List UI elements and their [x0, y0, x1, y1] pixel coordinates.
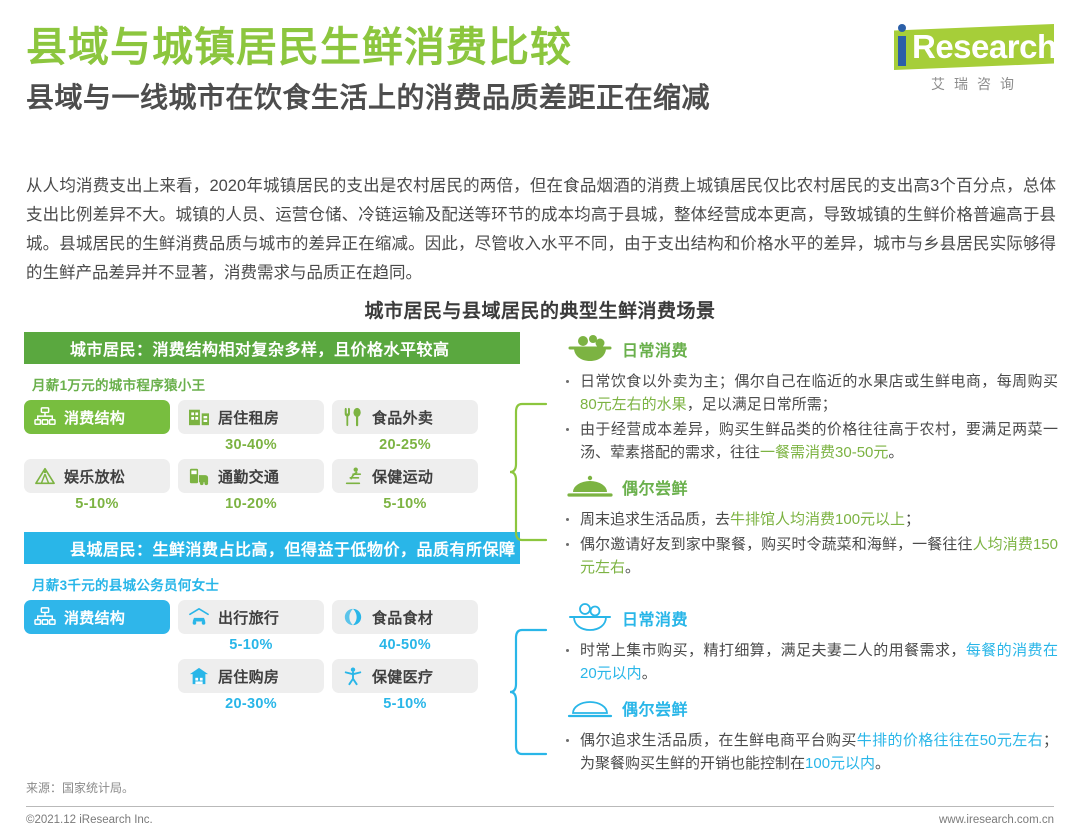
chip-label: 消费结构	[64, 407, 125, 428]
chip-label: 通勤交通	[218, 466, 279, 487]
chip-car-icon[interactable]: 出行旅行	[178, 600, 324, 634]
structure-icon	[32, 406, 58, 428]
cloche-icon	[558, 691, 622, 725]
body-text: ，足以满足日常所需；	[687, 396, 837, 413]
chip-label: 娱乐放松	[64, 466, 125, 487]
scene-bullet-list: 偶尔追求生活品质，在生鲜电商平台购买牛排的价格往往在50元左右；为聚餐购买生鲜的…	[558, 729, 1058, 775]
chip-value: 5-10%	[178, 637, 324, 653]
body-text: 偶尔追求生活品质，在生鲜电商平台购买	[580, 732, 857, 749]
city-bracket	[508, 402, 550, 544]
scene-header: 日常消费	[558, 330, 1058, 368]
tent-icon	[32, 465, 58, 487]
chip-label: 食品食材	[372, 607, 433, 628]
chip-label: 食品外卖	[372, 407, 433, 428]
highlight-text: 一餐需消费30-50元	[760, 444, 888, 461]
chip-value: 5-10%	[332, 696, 478, 712]
logo-i-dot-icon	[898, 24, 906, 32]
chip-value: 5-10%	[24, 496, 170, 512]
body-text: ；	[905, 511, 920, 528]
footer-copyright: ©2021.12 iResearch Inc.	[26, 814, 153, 826]
chip-value: 40-50%	[332, 637, 478, 653]
city-chip-grid: 消费结构-居住租房30-40%食品外卖20-25%娱乐放松5-10%通勤交通10…	[24, 400, 520, 518]
list-item: 偶尔追求生活品质，在生鲜电商平台购买牛排的价格往往在50元左右；为聚餐购买生鲜的…	[580, 729, 1058, 775]
city-band: 城市居民：消费结构相对复杂多样，且价格水平较高	[24, 332, 520, 364]
chip-value: 20-25%	[332, 437, 478, 453]
left-column: 城市居民：消费结构相对复杂多样，且价格水平较高 月薪1万元的城市程序猿小王 消费…	[24, 332, 520, 718]
footer-divider	[26, 806, 1054, 807]
body-text: 。	[642, 665, 657, 682]
chip-cell: 居住租房30-40%	[178, 400, 324, 453]
chip-cell: 食品食材40-50%	[332, 600, 478, 653]
chip-structure-icon[interactable]: 消费结构	[24, 600, 170, 634]
source-note: 来源：国家统计局。	[26, 779, 134, 796]
chip-cell: 居住购房20-30%	[178, 659, 324, 712]
vegetable-icon	[340, 606, 366, 628]
chip-cell: 出行旅行5-10%	[178, 600, 324, 653]
highlight-text: 牛排馆人均消费100元以上	[730, 511, 905, 528]
list-item: 周末追求生活品质，去牛排馆人均消费100元以上；	[580, 508, 1058, 531]
chip-tent-icon[interactable]: 娱乐放松	[24, 459, 170, 493]
scene-header: 偶尔尝鲜	[558, 689, 1058, 727]
chip-label: 出行旅行	[218, 607, 279, 628]
highlight-text: 80元左右的水果	[580, 396, 687, 413]
logo-i-stem-icon	[898, 36, 906, 66]
footer-website[interactable]: www.iresearch.com.cn	[939, 814, 1054, 826]
chip-cell: 保健运动5-10%	[332, 459, 478, 512]
chip-structure-icon[interactable]: 消费结构	[24, 400, 170, 434]
chip-cutlery-icon[interactable]: 食品外卖	[332, 400, 478, 434]
chip-fitness-icon[interactable]: 保健运动	[332, 459, 478, 493]
chip-bus-icon[interactable]: 通勤交通	[178, 459, 324, 493]
logo-chinese-name: 艾瑞咨询	[876, 74, 1056, 94]
slide-page: 县域与城镇居民生鲜消费比较 县域与一线城市在饮食生活上的消费品质差距正在缩减 R…	[0, 0, 1080, 836]
right-column: 日常消费日常饮食以外卖为主；偶尔自己在临近的水果店或生鲜电商，每周购买80元左右…	[558, 330, 1058, 779]
bus-icon	[186, 465, 212, 487]
county-band: 县城居民：生鲜消费占比高，但得益于低物价，品质有所保障	[24, 532, 520, 564]
body-text: 偶尔邀请好友到家中聚餐，购买时令蔬菜和海鲜，一餐往往	[580, 536, 973, 553]
body-text: 。	[875, 755, 890, 772]
chip-label: 保健医疗	[372, 666, 433, 687]
scene-title: 日常消费	[622, 606, 688, 630]
chip-cell: 消费结构-	[24, 600, 170, 653]
logo-mark: Research	[876, 18, 1056, 72]
chip-health-icon[interactable]: 保健医疗	[332, 659, 478, 693]
scene-title: 偶尔尝鲜	[622, 696, 688, 720]
list-item: 偶尔邀请好友到家中聚餐，购买时令蔬菜和海鲜，一餐往往人均消费150元左右。	[580, 533, 1058, 579]
chip-label: 保健运动	[372, 466, 433, 487]
chip-cell: 消费结构-	[24, 400, 170, 453]
scene-header: 日常消费	[558, 599, 1058, 637]
chip-value: 30-40%	[178, 437, 324, 453]
car-icon	[186, 606, 212, 628]
chip-cell: 娱乐放松5-10%	[24, 459, 170, 512]
scene-block: 偶尔尝鲜周末追求生活品质，去牛排馆人均消费100元以上；偶尔邀请好友到家中聚餐，…	[558, 468, 1058, 579]
chip-label: 居住租房	[218, 407, 279, 428]
body-text: 日常饮食以外卖为主；偶尔自己在临近的水果店或生鲜电商，每周购买	[580, 373, 1058, 390]
cutlery-icon	[340, 406, 366, 428]
scene-block: 偶尔尝鲜偶尔追求生活品质，在生鲜电商平台购买牛排的价格往往在50元左右；为聚餐购…	[558, 689, 1058, 775]
scene-bullet-list: 时常上集市购买，精打细算，满足夫妻二人的用餐需求，每餐的消费在20元以内。	[558, 639, 1058, 685]
scene-title: 日常消费	[622, 337, 688, 361]
county-persona: 月薪3千元的县城公务员何女士	[32, 574, 520, 594]
logo-wordmark: Research	[912, 26, 1057, 68]
chip-value: 5-10%	[332, 496, 478, 512]
scene-bullet-list: 周末追求生活品质，去牛排馆人均消费100元以上；偶尔邀请好友到家中聚餐，购买时令…	[558, 508, 1058, 579]
scene-header: 偶尔尝鲜	[558, 468, 1058, 506]
fruit-bowl-icon	[558, 330, 622, 368]
fruit-bowl-icon	[558, 599, 622, 637]
chip-cell: 通勤交通10-20%	[178, 459, 324, 512]
chip-vegetable-icon[interactable]: 食品食材	[332, 600, 478, 634]
scene-block: 日常消费时常上集市购买，精打细算，满足夫妻二人的用餐需求，每餐的消费在20元以内…	[558, 599, 1058, 685]
chip-label: 居住购房	[218, 666, 279, 687]
highlight-text: 牛排的价格往往在50元左右	[857, 732, 1043, 749]
scene-title: 偶尔尝鲜	[622, 475, 688, 499]
chip-house-icon[interactable]: 居住购房	[178, 659, 324, 693]
iresearch-logo: Research 艾瑞咨询	[876, 18, 1056, 94]
scene-block: 日常消费日常饮食以外卖为主；偶尔自己在临近的水果店或生鲜电商，每周购买80元左右…	[558, 330, 1058, 464]
structure-icon	[32, 606, 58, 628]
county-bracket	[508, 628, 550, 758]
chip-value: 20-30%	[178, 696, 324, 712]
chip-cell: 食品外卖20-25%	[332, 400, 478, 453]
chip-label: 消费结构	[64, 607, 125, 628]
highlight-text: 100元以内	[805, 755, 875, 772]
body-text: 。	[625, 559, 640, 576]
house-icon	[186, 665, 212, 687]
city-persona: 月薪1万元的城市程序猿小王	[32, 374, 520, 394]
column-spacer	[558, 583, 1058, 599]
list-item: 由于经营成本差异，购买生鲜品类的价格往往高于农村，要满足两菜一汤、荤素搭配的需求…	[580, 418, 1058, 464]
body-text: 周末追求生活品质，去	[580, 511, 730, 528]
chip-cell-spacer	[24, 659, 170, 712]
body-text: 。	[888, 444, 903, 461]
chip-building-icon[interactable]: 居住租房	[178, 400, 324, 434]
chip-value: 10-20%	[178, 496, 324, 512]
body-text: 时常上集市购买，精打细算，满足夫妻二人的用餐需求，	[580, 642, 966, 659]
chip-cell: 保健医疗5-10%	[332, 659, 478, 712]
scene-bullet-list: 日常饮食以外卖为主；偶尔自己在临近的水果店或生鲜电商，每周购买80元左右的水果，…	[558, 370, 1058, 464]
intro-paragraph: 从人均消费支出上来看，2020年城镇居民的支出是农村居民的两倍，但在食品烟酒的消…	[26, 172, 1056, 288]
county-chip-grid: 消费结构-出行旅行5-10%食品食材40-50%居住购房20-30%保健医疗5-…	[24, 600, 520, 718]
list-item: 日常饮食以外卖为主；偶尔自己在临近的水果店或生鲜电商，每周购买80元左右的水果，…	[580, 370, 1058, 416]
building-icon	[186, 406, 212, 428]
list-item: 时常上集市购买，精打细算，满足夫妻二人的用餐需求，每餐的消费在20元以内。	[580, 639, 1058, 685]
cloche-icon	[558, 470, 622, 504]
section-title: 城市居民与县域居民的典型生鲜消费场景	[0, 296, 1080, 323]
health-icon	[340, 665, 366, 687]
fitness-icon	[340, 465, 366, 487]
